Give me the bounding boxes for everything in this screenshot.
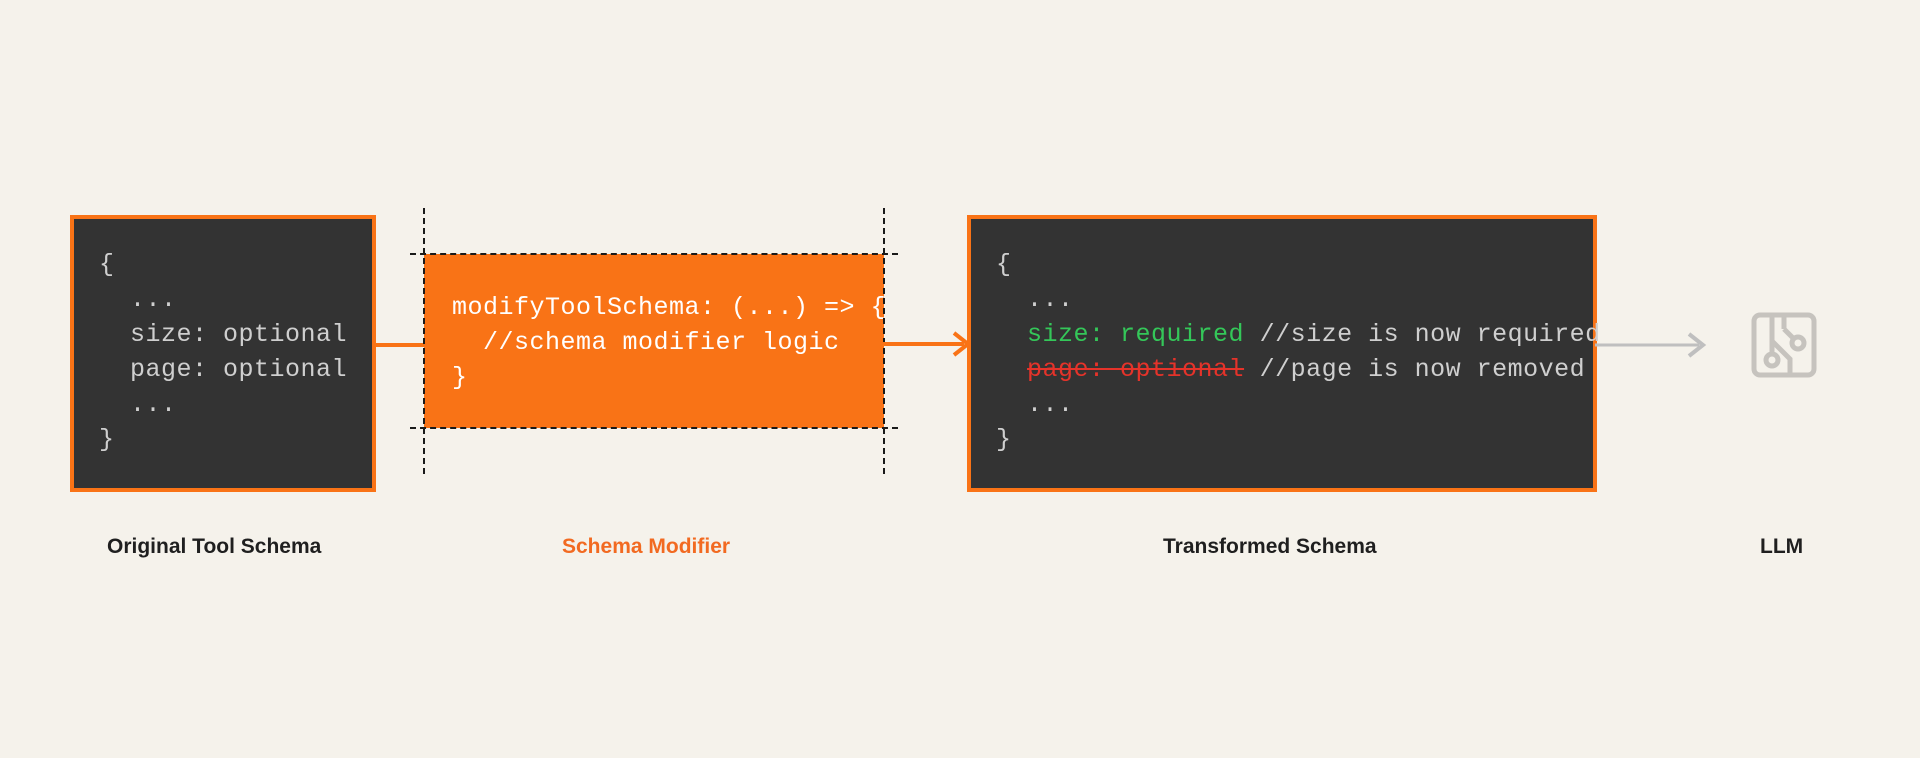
code-line: page: optional //page is now removed [996,355,1585,384]
caption-transformed-schema: Transformed Schema [1163,535,1377,559]
transformed-schema-code: { ... size: required //size is now requi… [971,219,1593,457]
orange-arrow-icon [882,330,974,360]
gray-arrow-icon [1595,330,1715,360]
code-line: ... [996,390,1074,419]
caption-schema-modifier: Schema Modifier [562,535,730,559]
code-line: ... [996,285,1074,314]
code-line: ... [99,390,177,419]
original-schema-code: { ... size: optional page: optional ... … [74,219,372,457]
caption-original-tool-schema: Original Tool Schema [107,535,321,559]
diagram-canvas: { ... size: optional page: optional ... … [0,0,1920,758]
code-line: { [996,250,1012,279]
code-line: size: optional [99,320,347,349]
connector-original-to-modifier [372,343,428,347]
circuit-chip-icon [1750,311,1818,379]
schema-modifier-box: modifyToolSchema: (...) => { //schema mo… [424,254,884,428]
schema-modifier-code: modifyToolSchema: (...) => { //schema mo… [424,254,884,395]
code-line: } [99,425,115,454]
connector-modifier-to-transformed [882,330,974,360]
dashed-edge-top [410,253,898,255]
code-line: modifyToolSchema: (...) => { [452,293,886,322]
page-comment: //page is now removed [1244,355,1585,384]
code-line: ... [99,285,177,314]
page-optional-removed-token: page: optional [1027,355,1244,384]
connector-transformed-to-llm [1595,330,1715,360]
code-line: size: required //size is now required [996,320,1601,349]
code-line: { [99,250,115,279]
code-line: } [996,425,1012,454]
code-line: } [452,363,468,392]
code-line: //schema modifier logic [452,328,840,357]
dashed-edge-left [423,208,425,474]
dashed-edge-bottom [410,427,898,429]
transformed-schema-box: { ... size: required //size is now requi… [967,215,1597,492]
code-line: page: optional [99,355,347,384]
size-required-token: size: required [1027,320,1244,349]
original-tool-schema-box: { ... size: optional page: optional ... … [70,215,376,492]
schema-modifier-fill: modifyToolSchema: (...) => { //schema mo… [424,254,884,428]
size-comment: //size is now required [1244,320,1601,349]
caption-llm: LLM [1760,535,1803,559]
